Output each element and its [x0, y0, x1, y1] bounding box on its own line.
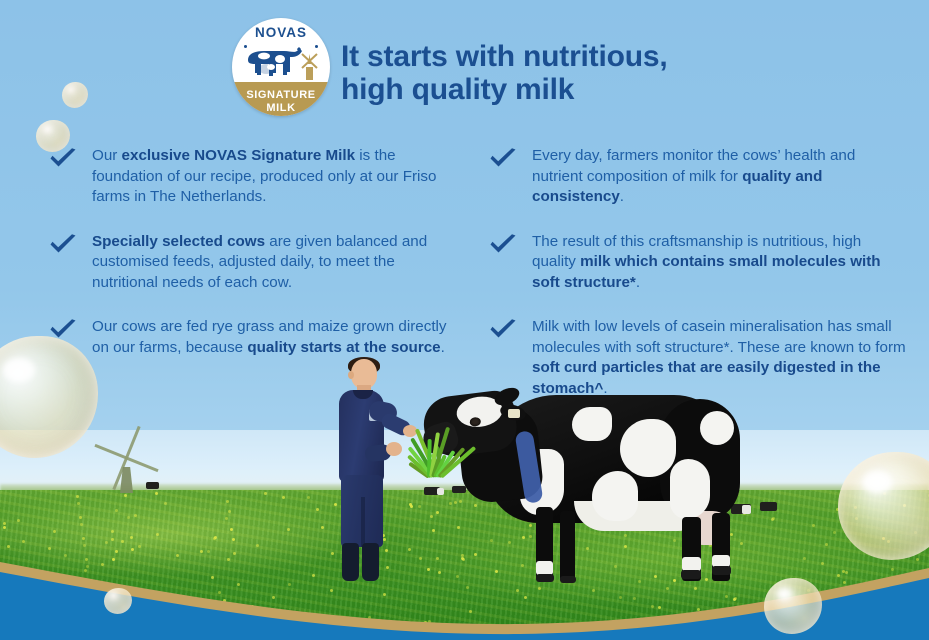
bullet-item: Our exclusive NOVAS Signature Milk is th… — [48, 146, 458, 208]
bullet-text: Milk with low levels of casein mineralis… — [532, 317, 908, 399]
distant-cow — [760, 502, 777, 511]
logo-signature-text: SIGNATURE — [232, 89, 330, 101]
check-icon — [488, 234, 518, 256]
distant-cow — [742, 505, 751, 514]
bullet-text-bold: quality starts at the source — [247, 339, 440, 356]
logo-novas-text: NOVAS — [232, 25, 330, 40]
check-icon — [488, 319, 518, 341]
bullet-item: Our cows are fed rye grass and maize gro… — [48, 317, 458, 358]
check-icon — [48, 148, 78, 170]
check-icon — [48, 319, 78, 341]
bullet-text-bold: Specially selected cows — [92, 233, 265, 250]
bullet-text-plain: . — [603, 380, 607, 397]
grass-handful — [413, 429, 447, 477]
bullet-column-right: Every day, farmers monitor the cows’ hea… — [488, 146, 908, 423]
check-icon — [48, 234, 78, 256]
bullet-text-bold: milk which contains small molecules with… — [532, 253, 881, 291]
bullet-item: Milk with low levels of casein mineralis… — [488, 317, 908, 399]
headline-line-1: It starts with nutritious, — [341, 40, 901, 73]
bullet-text: Our cows are fed rye grass and maize gro… — [92, 317, 458, 358]
cow-windmill-icon — [240, 42, 322, 88]
bullet-item: Every day, farmers monitor the cows’ hea… — [488, 146, 908, 208]
bullet-text: Specially selected cows are given balanc… — [92, 232, 458, 294]
bullet-text-plain: . — [636, 274, 640, 291]
bullet-text-plain: . — [441, 339, 445, 356]
bullet-text: The result of this craftsmanship is nutr… — [532, 232, 908, 294]
bullet-text-plain: . — [620, 188, 624, 205]
bullet-text: Our exclusive NOVAS Signature Milk is th… — [92, 146, 458, 208]
page-title: It starts with nutritious, high quality … — [341, 40, 901, 106]
bullet-text-bold: exclusive NOVAS Signature Milk — [122, 147, 356, 164]
bullet-text-plain: Milk with low levels of casein mineralis… — [532, 318, 906, 356]
novas-signature-milk-logo: NOVAS — [232, 18, 330, 116]
headline-line-2: high quality milk — [341, 73, 901, 106]
logo-milk-text: MILK — [232, 102, 330, 114]
poster-canvas: NOVAS — [0, 0, 929, 640]
windmill-icon — [104, 447, 148, 493]
bullet-text-plain: Our — [92, 147, 122, 164]
distant-cow — [146, 482, 159, 489]
check-icon — [488, 148, 518, 170]
bullet-text: Every day, farmers monitor the cows’ hea… — [532, 146, 908, 208]
bullet-text-bold: soft curd particles that are easily dige… — [532, 359, 881, 397]
bullet-item: The result of this craftsmanship is nutr… — [488, 232, 908, 294]
milk-bubble — [62, 82, 88, 108]
bullet-item: Specially selected cows are given balanc… — [48, 232, 458, 294]
bullet-column-left: Our exclusive NOVAS Signature Milk is th… — [48, 146, 458, 382]
